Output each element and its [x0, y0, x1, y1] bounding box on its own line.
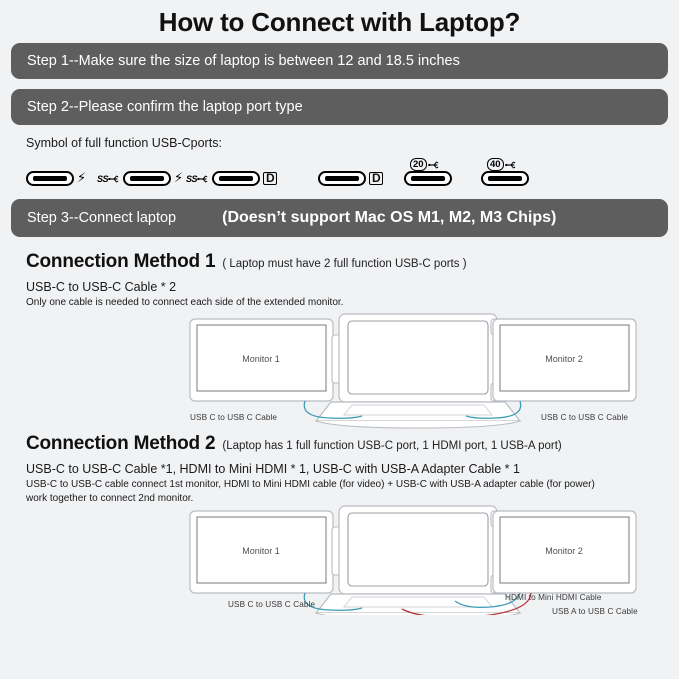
method-1-cable-label-left: USB C to USB C Cable: [190, 413, 277, 422]
method-2-cable-summary: USB-C to USB-C Cable *1, HDMI to Mini HD…: [0, 455, 679, 476]
step-bar-1: Step 1--Make sure the size of laptop is …: [11, 43, 668, 79]
method-1-title: Connection Method 1: [26, 251, 215, 273]
monitor-1-left: Monitor 1: [190, 511, 333, 593]
laptop-center: [316, 506, 520, 615]
method-2-description: USB-C to USB-C cable connect 1st monitor…: [0, 476, 679, 492]
usbc-symbol-block: Symbol of full function USB-Cports: ⚡ SS…: [0, 135, 679, 199]
monitor-2-label: Monitor 2: [545, 546, 583, 556]
superspeed-icon: SS: [186, 174, 209, 184]
laptop-center: [316, 314, 520, 428]
monitor-2-right: Monitor 2: [493, 319, 636, 401]
usbc-port-icon: [123, 171, 171, 186]
monitor-2-label: Monitor 2: [545, 354, 583, 364]
usbc-40-rate-group: 40: [487, 158, 517, 171]
step-3-note: (Doesn’t support Mac OS M1, M2, M3 Chips…: [222, 209, 556, 227]
usbc-port-icon: [212, 171, 260, 186]
method-2-subtitle: (Laptop has 1 full function USB-C port, …: [222, 440, 561, 452]
method-2-cable-label-hdmi: HDMI to Mini HDMI Cable: [505, 593, 601, 602]
method-1-description: Only one cable is needed to connect each…: [0, 294, 679, 310]
method-2-description-cont: work together to connect 2nd monitor.: [0, 492, 679, 506]
usbc-thunderbolt-symbol: ⚡: [26, 171, 86, 186]
usbc-20-wrap: 20: [404, 171, 452, 186]
usb-trident-icon: [428, 160, 440, 170]
usbc-symbol-row: ⚡ SS ⚡ SS: [26, 152, 679, 194]
page-title: How to Connect with Laptop?: [0, 0, 679, 43]
step-2-label: Step 2--Please confirm the laptop port t…: [27, 99, 303, 115]
rate-40-label: 40: [487, 158, 504, 171]
displayport-icon: D: [263, 172, 277, 185]
usbc-port-icon: [481, 171, 529, 186]
usb-trident-icon: [108, 174, 120, 184]
monitor-2-right: Monitor 2: [493, 511, 636, 593]
method-1-diagram-svg: Monitor 1 Monitor 2: [0, 309, 679, 429]
method-1-subtitle: ( Laptop must have 2 full function USB-C…: [222, 258, 466, 270]
method-2-cable-label-usba: USB A to USB C Cable: [552, 607, 638, 616]
usbc-port-icon: [404, 171, 452, 186]
usbc-40gbps-symbol: 40: [481, 171, 529, 186]
usb-trident-icon: [197, 174, 209, 184]
method-2-title: Connection Method 2: [26, 433, 215, 455]
method-1-cable-label-right: USB C to USB C Cable: [541, 413, 628, 422]
monitor-1-label: Monitor 1: [242, 354, 280, 364]
method-2-diagram: Monitor 1 Monitor 2 USB C to USB: [0, 505, 679, 615]
usbc-40-wrap: 40: [481, 171, 529, 186]
method-1-diagram: Monitor 1 Monitor 2 U: [0, 309, 679, 429]
usbc-20-rate-group: 20: [410, 158, 440, 171]
method-2-cable-label-usbc: USB C to USB C Cable: [228, 600, 315, 609]
thunderbolt-icon: ⚡: [174, 172, 183, 185]
usbc-port-icon: [318, 171, 366, 186]
displayport-icon: D: [369, 172, 383, 185]
monitor-1-label: Monitor 1: [242, 546, 280, 556]
usb-trident-icon: [505, 160, 517, 170]
usbc-20gbps-symbol: 20: [404, 171, 452, 186]
rate-20-label: 20: [410, 158, 427, 171]
step-1-label: Step 1--Make sure the size of laptop is …: [27, 53, 460, 69]
usbc-ss-thunderbolt-symbol: SS ⚡: [97, 171, 183, 186]
superspeed-icon: SS: [97, 174, 120, 184]
step-3-label: Step 3--Connect laptop: [27, 210, 176, 226]
monitor-1-left: Monitor 1: [190, 319, 333, 401]
method-1-heading: Connection Method 1 ( Laptop must have 2…: [0, 245, 679, 273]
step-bar-3: Step 3--Connect laptop (Doesn’t support …: [11, 199, 668, 237]
step-bar-2: Step 2--Please confirm the laptop port t…: [11, 89, 668, 125]
method-1-cable-summary: USB-C to USB-C Cable * 2: [0, 273, 679, 294]
usbc-displayport-symbol: D: [318, 171, 383, 186]
method-2-heading: Connection Method 2 (Laptop has 1 full f…: [0, 429, 679, 455]
usbc-ss-displayport-symbol: SS D: [186, 171, 277, 186]
usbc-symbol-caption: Symbol of full function USB-Cports:: [26, 135, 679, 150]
thunderbolt-icon: ⚡: [77, 172, 86, 185]
usbc-port-icon: [26, 171, 74, 186]
